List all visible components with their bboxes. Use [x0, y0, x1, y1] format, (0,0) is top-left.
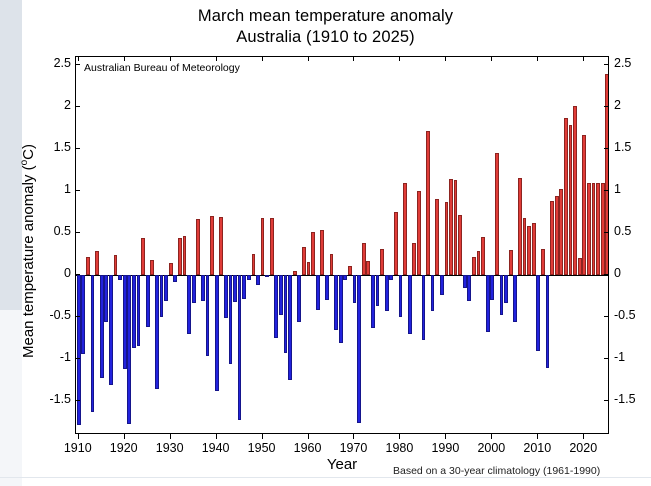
bar: [550, 201, 554, 275]
x-tick: [583, 434, 584, 439]
y-axis-label: Mean temperature anomaly (oC): [19, 81, 37, 421]
bar: [408, 275, 412, 334]
x-tick: [170, 434, 171, 439]
bar: [261, 218, 265, 275]
bar-series: [76, 57, 609, 434]
y-tick-label-left: 0: [64, 266, 71, 280]
x-tick-top: [170, 56, 171, 61]
y-tick-label-right: -1: [614, 350, 625, 364]
x-tick-top: [399, 56, 400, 61]
x-tick-top: [308, 56, 309, 61]
bar: [274, 275, 278, 338]
bar: [490, 275, 494, 299]
y-tick-label-right: 1: [614, 182, 621, 196]
x-tick-top: [445, 56, 446, 61]
y-tick-left: [75, 64, 80, 65]
bar: [573, 106, 577, 276]
y-tick-right: [604, 400, 609, 401]
y-tick-right: [604, 64, 609, 65]
bar: [445, 202, 449, 275]
bar: [132, 275, 136, 347]
bar: [201, 275, 205, 300]
bar: [77, 275, 81, 425]
bar: [601, 183, 605, 275]
bar: [458, 215, 462, 275]
x-tick: [537, 434, 538, 439]
bar: [219, 217, 223, 276]
bar: [238, 275, 242, 419]
bar: [513, 275, 517, 322]
plot-area: Australian Bureau of Meteorology: [75, 56, 609, 434]
y-tick-label-left: 1.5: [54, 140, 71, 154]
x-tick-label: 1990: [422, 441, 468, 455]
x-tick: [262, 434, 263, 439]
bar: [320, 230, 324, 275]
y-tick-left: [75, 358, 80, 359]
bar: [518, 178, 522, 275]
bar: [270, 218, 274, 275]
chart-subtitle: Australia (1910 to 2025): [0, 27, 651, 48]
bar: [495, 153, 499, 276]
x-tick-top: [537, 56, 538, 61]
bar: [91, 275, 95, 412]
x-tick-label: 1910: [55, 441, 101, 455]
y-tick-label-left: 0.5: [54, 224, 71, 238]
bar: [95, 251, 99, 275]
bar: [164, 275, 168, 300]
y-tick-right: [604, 232, 609, 233]
bar: [302, 247, 306, 276]
bar: [160, 275, 164, 316]
bar: [169, 263, 173, 276]
x-tick-top: [78, 56, 79, 61]
bar: [265, 275, 269, 277]
bar: [348, 266, 352, 275]
bar: [210, 216, 214, 276]
x-tick-label: 1940: [193, 441, 239, 455]
bar: [183, 236, 187, 275]
bar: [123, 275, 127, 368]
y-tick-label-right: 1.5: [614, 140, 631, 154]
x-tick-label: 2020: [560, 441, 606, 455]
bar: [362, 243, 366, 276]
bar: [605, 74, 609, 276]
x-tick-label: 1970: [330, 441, 376, 455]
y-tick-label-right: 2.5: [614, 56, 631, 70]
x-tick: [216, 434, 217, 439]
bar: [229, 275, 233, 364]
bar: [504, 275, 508, 303]
y-tick-label-left: -0.5: [49, 308, 71, 322]
x-tick: [353, 434, 354, 439]
y-tick-left: [75, 274, 80, 275]
y-tick-label-left: 1: [64, 182, 71, 196]
y-tick-label-right: 2: [614, 98, 621, 112]
y-tick-left: [75, 232, 80, 233]
bar: [371, 275, 375, 328]
bar: [81, 275, 85, 353]
y-tick-label-left: -1.5: [49, 392, 71, 406]
chart-title-block: March mean temperature anomaly Australia…: [0, 6, 651, 48]
bar: [247, 275, 251, 280]
bar: [394, 212, 398, 275]
bar: [357, 275, 361, 423]
x-tick-top: [262, 56, 263, 61]
bar: [536, 275, 540, 351]
bar: [431, 275, 435, 310]
y-tick-right: [604, 358, 609, 359]
bar: [307, 262, 311, 275]
bar: [334, 275, 338, 330]
bar: [546, 275, 550, 367]
bar: [297, 275, 301, 322]
y-tick-label-right: -0.5: [614, 308, 636, 322]
x-tick: [124, 434, 125, 439]
bar: [555, 196, 559, 275]
bar: [339, 275, 343, 342]
x-tick: [445, 434, 446, 439]
bar: [500, 275, 504, 314]
x-tick: [78, 434, 79, 439]
bar: [141, 238, 145, 276]
x-tick-label: 1980: [376, 441, 422, 455]
bar: [467, 275, 471, 301]
bar: [127, 275, 131, 424]
bar: [380, 249, 384, 276]
bar: [399, 275, 403, 316]
y-tick-label-left: -1: [60, 350, 71, 364]
bar: [100, 275, 104, 377]
x-tick-top: [216, 56, 217, 61]
bar: [596, 183, 600, 275]
bar: [454, 180, 458, 275]
bar: [192, 275, 196, 303]
x-tick-top: [583, 56, 584, 61]
y-tick-left: [75, 106, 80, 107]
x-tick-top: [353, 56, 354, 61]
bar: [233, 275, 237, 302]
bar: [564, 118, 568, 275]
bar: [509, 250, 513, 275]
bar: [587, 183, 591, 275]
x-tick-label: 1950: [239, 441, 285, 455]
y-tick-right: [604, 274, 609, 275]
x-tick-label: 2000: [468, 441, 514, 455]
bar: [422, 275, 426, 340]
y-tick-label-right: -1.5: [614, 392, 636, 406]
bar: [449, 179, 453, 276]
bar: [316, 275, 320, 309]
x-tick-label: 1920: [101, 441, 147, 455]
bar: [330, 254, 334, 276]
x-tick: [399, 434, 400, 439]
y-tick-label-right: 0.5: [614, 224, 631, 238]
bar: [104, 275, 108, 321]
bar: [592, 183, 596, 275]
bar: [403, 183, 407, 275]
bar: [389, 275, 393, 280]
bar: [426, 131, 430, 275]
bar: [569, 125, 573, 275]
bar: [242, 275, 246, 299]
y-tick-left: [75, 190, 80, 191]
y-tick-label-right: 0: [614, 266, 621, 280]
bar: [325, 275, 329, 299]
bar: [463, 275, 467, 288]
bar: [137, 275, 141, 346]
bar: [417, 191, 421, 276]
chart-title: March mean temperature anomaly: [0, 6, 651, 27]
x-tick-label: 1960: [285, 441, 331, 455]
y-tick-right: [604, 148, 609, 149]
bar: [146, 275, 150, 327]
bar: [256, 275, 260, 284]
bar: [114, 255, 118, 275]
y-tick-label-left: 2: [64, 98, 71, 112]
y-tick-left: [75, 400, 80, 401]
y-axis-label-text: Mean temperature anomaly (oC): [20, 144, 37, 358]
bar: [578, 258, 582, 276]
bar: [173, 275, 177, 282]
bar: [155, 275, 159, 388]
bar: [435, 199, 439, 275]
y-tick-left: [75, 148, 80, 149]
bar: [527, 226, 531, 276]
bar: [187, 275, 191, 334]
bar: [178, 238, 182, 276]
bar: [206, 275, 210, 356]
y-tick-label-left: 2.5: [54, 56, 71, 70]
y-tick-right: [604, 106, 609, 107]
bar: [109, 275, 113, 384]
bar: [215, 275, 219, 391]
bar: [366, 261, 370, 275]
bar: [279, 275, 283, 314]
y-tick-left: [75, 316, 80, 317]
bar: [481, 237, 485, 276]
bar: [284, 275, 288, 352]
bar: [523, 218, 527, 275]
bar: [486, 275, 490, 331]
bar: [541, 249, 545, 276]
bar: [86, 257, 90, 275]
bar: [343, 275, 347, 279]
bar: [376, 275, 380, 306]
y-tick-right: [604, 316, 609, 317]
bar: [532, 223, 536, 275]
x-tick: [491, 434, 492, 439]
x-tick-top: [491, 56, 492, 61]
bar: [288, 275, 292, 380]
bar: [559, 189, 563, 276]
bar: [252, 254, 256, 275]
bar: [224, 275, 228, 318]
climatology-note: Based on a 30-year climatology (1961-199…: [393, 465, 600, 477]
x-tick: [308, 434, 309, 439]
bar: [353, 275, 357, 303]
bar: [150, 260, 154, 275]
bar: [477, 251, 481, 275]
bar: [412, 243, 416, 275]
bar: [472, 257, 476, 275]
bar: [440, 275, 444, 294]
bar: [118, 275, 122, 279]
bar: [385, 275, 389, 310]
bar: [196, 219, 200, 275]
y-tick-right: [604, 190, 609, 191]
x-tick-label: 2010: [514, 441, 560, 455]
chart-figure: March mean temperature anomaly Australia…: [0, 0, 651, 486]
x-tick-label: 1930: [147, 441, 193, 455]
bar: [311, 232, 315, 276]
bar: [582, 135, 586, 275]
x-tick-top: [124, 56, 125, 61]
bar: [293, 271, 297, 275]
